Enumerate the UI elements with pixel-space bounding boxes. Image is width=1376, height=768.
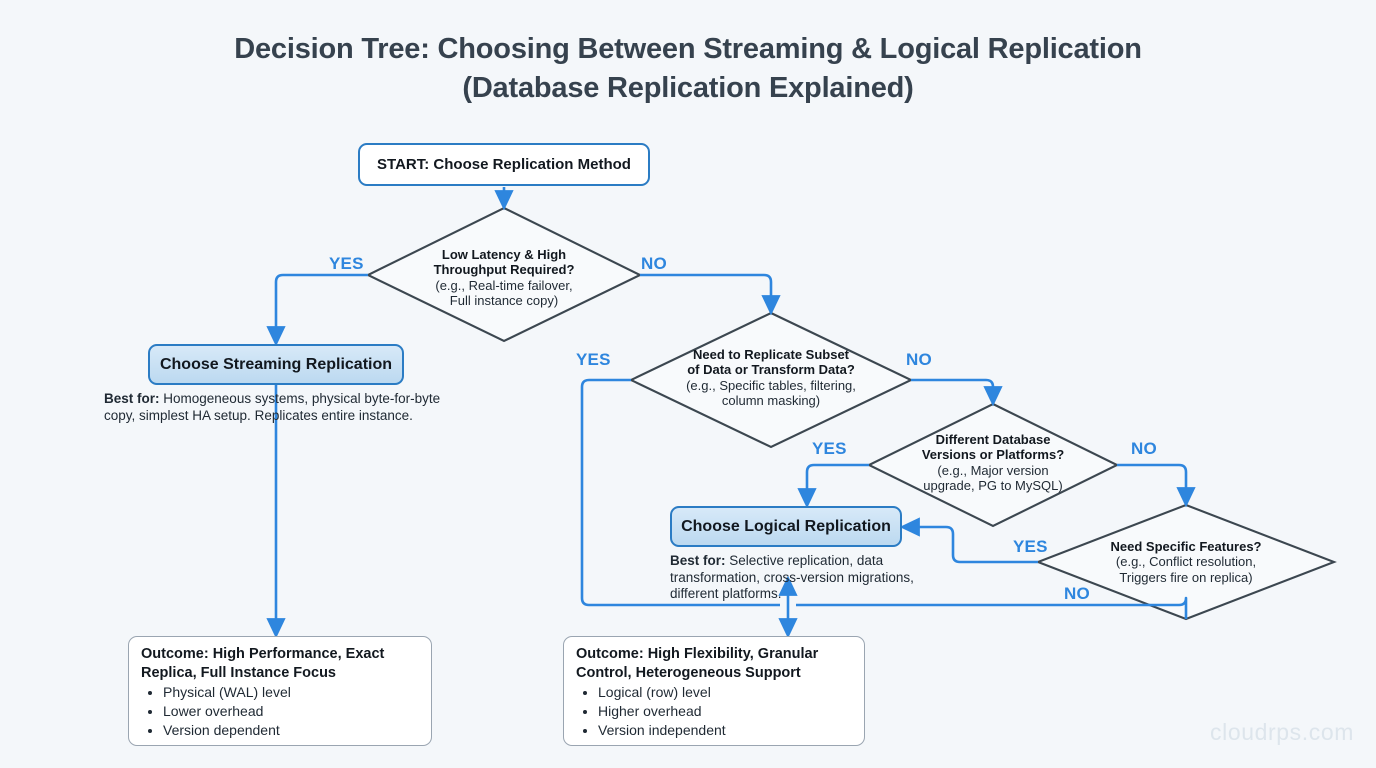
list-item: Lower overhead xyxy=(163,702,419,721)
choice-streaming-label: Choose Streaming Replication xyxy=(160,356,392,374)
bestfor-logical: Best for: Selective replication, data tr… xyxy=(670,553,948,603)
edge-subset-no-to-versions xyxy=(911,380,993,396)
page-title-line2: (Database Replication Explained) xyxy=(0,69,1376,108)
decision-diamond-subset xyxy=(631,313,911,447)
edge-label-features-no: NO xyxy=(1064,584,1090,604)
start-node[interactable]: START: Choose Replication Method xyxy=(358,143,650,186)
choice-logical-replication[interactable]: Choose Logical Replication xyxy=(670,506,902,547)
decision-diamond-versions xyxy=(869,404,1117,526)
choice-logical-label: Choose Logical Replication xyxy=(681,518,891,536)
outcome-logical-heading: Outcome: High Flexibility, Granular Cont… xyxy=(576,645,852,682)
bestfor-streaming-line1: Homogeneous systems, physical byte-for-b… xyxy=(160,391,441,406)
bestfor-streaming: Best for: Homogeneous systems, physical … xyxy=(104,391,452,424)
list-item: Version dependent xyxy=(163,721,419,740)
bestfor-logical-line1: Selective replication, data xyxy=(726,553,884,568)
outcome-streaming-heading-line1: Outcome: High Performance, Exact xyxy=(141,646,384,662)
edge-versions-yes-to-logical xyxy=(807,465,869,498)
outcome-logical-heading-line2: Control, Heterogeneous Support xyxy=(576,665,801,681)
list-item: Higher overhead xyxy=(598,702,852,721)
bestfor-logical-line2: transformation, cross-version migrations… xyxy=(670,570,914,585)
outcome-streaming-bullets: Physical (WAL) level Lower overhead Vers… xyxy=(141,683,419,740)
bestfor-streaming-line2: copy, simplest HA setup. Replicates enti… xyxy=(104,408,413,423)
decision-diamond-latency xyxy=(368,208,640,341)
edge-label-subset-no: NO xyxy=(906,350,932,370)
bestfor-logical-prefix: Best for: xyxy=(670,553,726,568)
outcome-logical-heading-line1: Outcome: High Flexibility, Granular xyxy=(576,646,818,662)
edge-label-versions-no: NO xyxy=(1131,439,1157,459)
edge-label-features-yes: YES xyxy=(1013,537,1048,557)
list-item: Version independent xyxy=(598,721,852,740)
bestfor-streaming-prefix: Best for: xyxy=(104,391,160,406)
list-item: Logical (row) level xyxy=(598,683,852,702)
edge-latency-no-to-subset xyxy=(640,275,771,305)
outcome-streaming-heading: Outcome: High Performance, Exact Replica… xyxy=(141,645,419,682)
page-title: Decision Tree: Choosing Between Streamin… xyxy=(0,30,1376,107)
edge-label-versions-yes: YES xyxy=(812,439,847,459)
list-item: Physical (WAL) level xyxy=(163,683,419,702)
diagram-canvas: Decision Tree: Choosing Between Streamin… xyxy=(0,0,1376,768)
edge-label-subset-yes: YES xyxy=(576,350,611,370)
edge-label-latency-yes: YES xyxy=(329,254,364,274)
outcome-box-logical: Outcome: High Flexibility, Granular Cont… xyxy=(563,636,865,746)
edge-latency-yes-to-streaming xyxy=(276,275,368,336)
edge-versions-no-to-features xyxy=(1117,465,1186,497)
choice-streaming-replication[interactable]: Choose Streaming Replication xyxy=(148,344,404,385)
page-title-line1: Decision Tree: Choosing Between Streamin… xyxy=(234,33,1142,65)
outcome-streaming-heading-line2: Replica, Full Instance Focus xyxy=(141,665,336,681)
start-node-label: START: Choose Replication Method xyxy=(377,156,631,173)
outcome-logical-bullets: Logical (row) level Higher overhead Vers… xyxy=(576,683,852,740)
edge-label-latency-no: NO xyxy=(641,254,667,274)
watermark: cloudrps.com xyxy=(1210,719,1354,746)
outcome-box-streaming: Outcome: High Performance, Exact Replica… xyxy=(128,636,432,746)
bestfor-logical-line3: different platforms. xyxy=(670,586,782,601)
